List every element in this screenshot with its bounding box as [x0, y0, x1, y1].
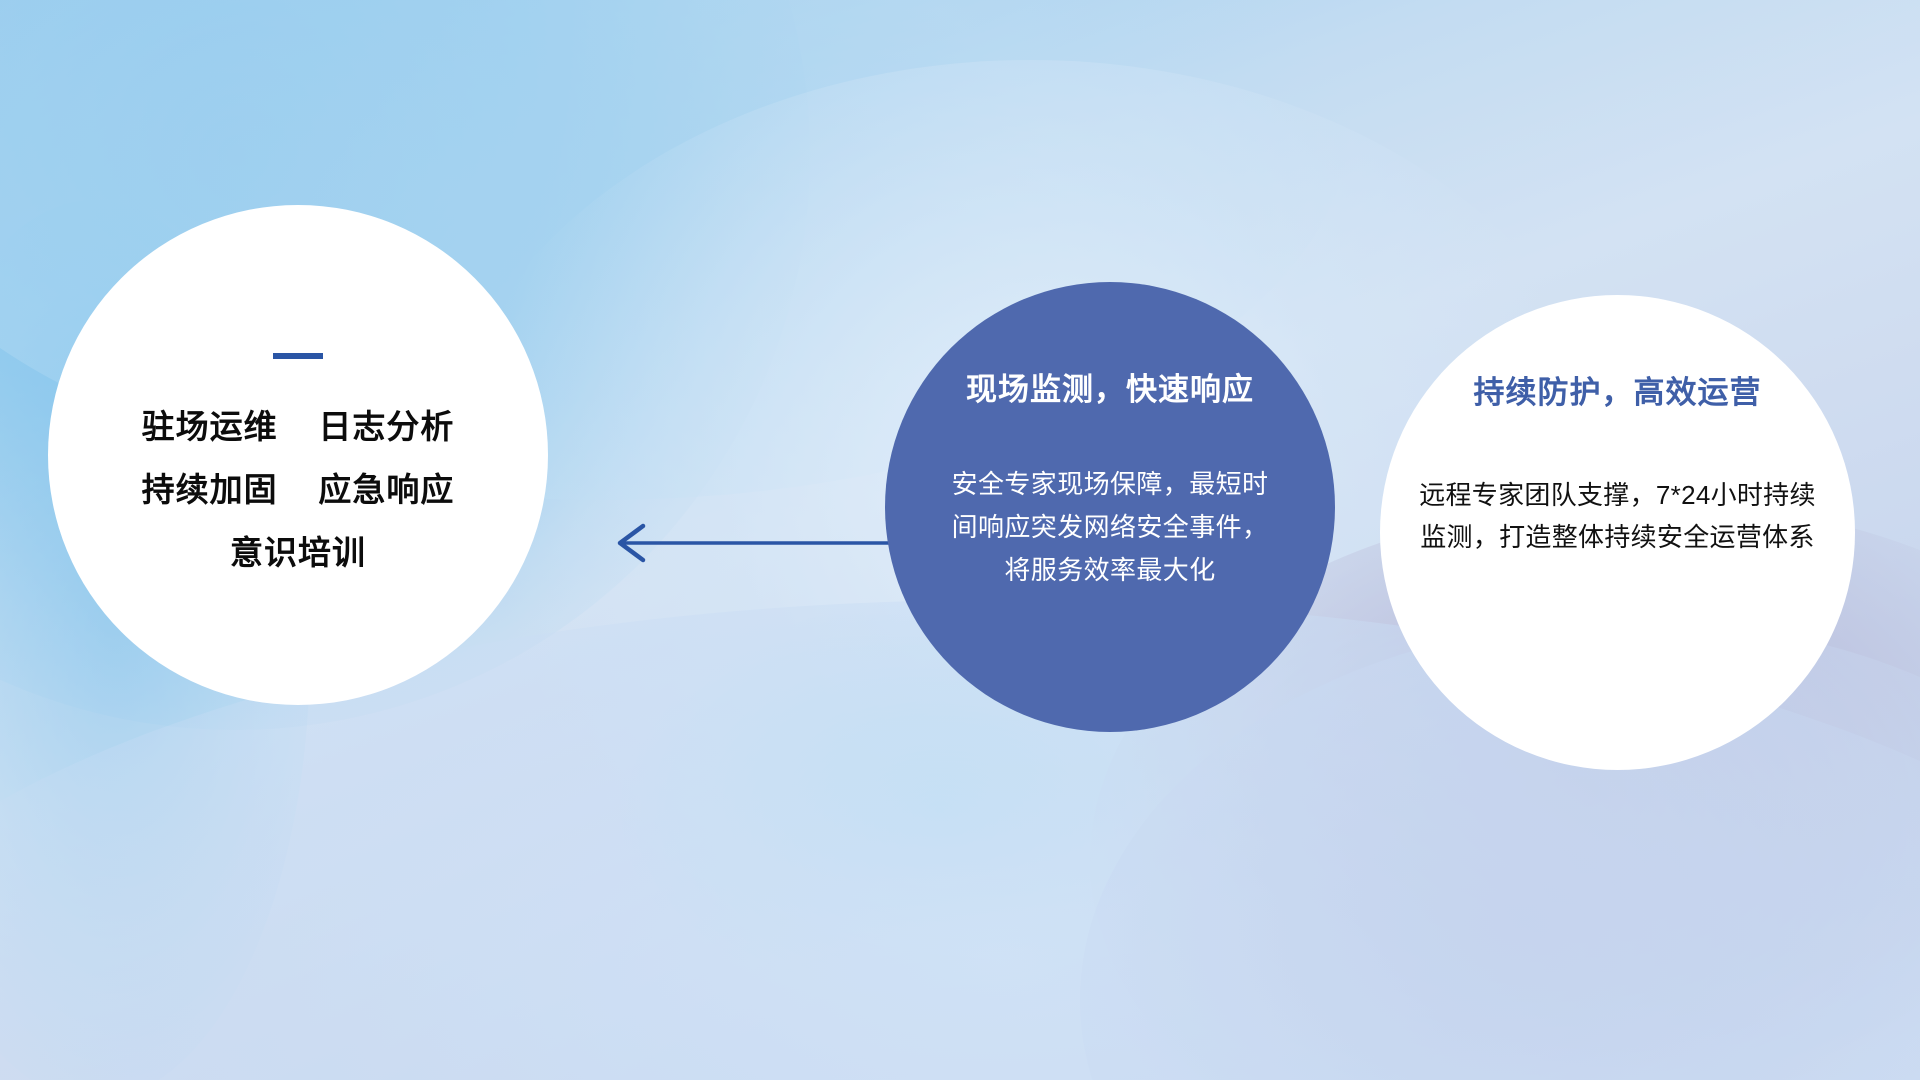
arrow-icon — [598, 512, 898, 572]
capability-line-1: 驻场运维 日志分析 — [142, 399, 455, 456]
capability-line-2: 持续加固 应急响应 — [142, 462, 455, 519]
continuous-protection-circle: 持续防护，高效运营 远程专家团队支撑，7*24小时持续监测，打造整体持续安全运营… — [1380, 295, 1855, 770]
continuous-protection-title: 持续防护，高效运营 — [1474, 367, 1762, 412]
capability-line-3: 意识培训 — [230, 525, 366, 582]
onsite-monitoring-circle: 现场监测，快速响应 安全专家现场保障，最短时间响应突发网络安全事件，将服务效率最… — [885, 282, 1335, 732]
slide-canvas: 驻场运维 日志分析 持续加固 应急响应 意识培训 现场监测，快速响应 安全专家现… — [0, 0, 1920, 1080]
onsite-monitoring-body: 安全专家现场保障，最短时间响应突发网络安全事件，将服务效率最大化 — [951, 463, 1269, 592]
capability-list: 驻场运维 日志分析 持续加固 应急响应 意识培训 — [142, 399, 455, 581]
capability-summary-circle: 驻场运维 日志分析 持续加固 应急响应 意识培训 — [48, 205, 548, 705]
left-pointing-arrow — [598, 512, 898, 572]
divider-dash — [273, 353, 323, 359]
onsite-monitoring-title: 现场监测，快速响应 — [966, 364, 1254, 409]
continuous-protection-body: 远程专家团队支撑，7*24小时持续监测，打造整体持续安全运营体系 — [1418, 474, 1818, 558]
